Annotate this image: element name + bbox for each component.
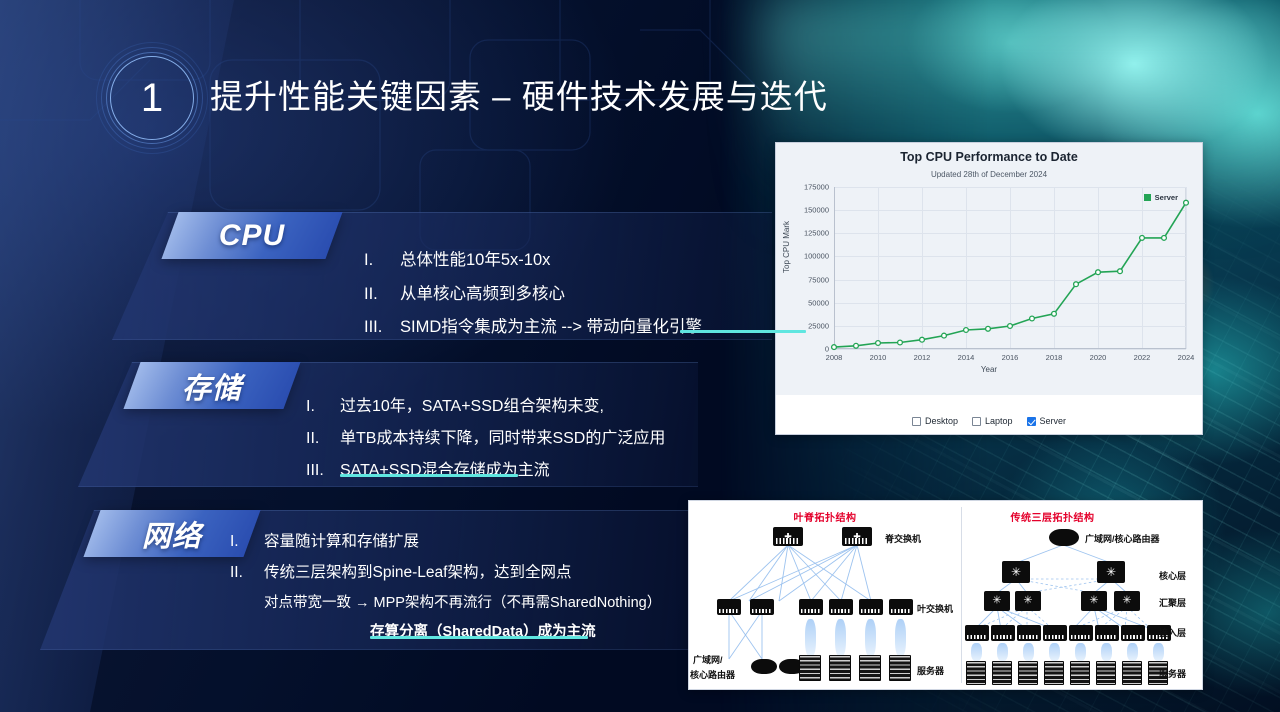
- switch-ports: [776, 538, 800, 544]
- traffic-beam: [1075, 643, 1086, 661]
- section-network-bullets: I. 容量随计算和存储扩展 II. 传统三层架构到Spine-Leaf架构，达到…: [230, 532, 700, 641]
- server-rack: [966, 661, 986, 685]
- spine-leaf-diagram: 叶脊拓扑结构 ✚ ✚ 脊交换机: [689, 501, 961, 689]
- bullet-numeral: III.: [364, 317, 400, 338]
- bullet-numeral: II.: [306, 429, 340, 449]
- bullet-text: 容量随计算和存储扩展: [264, 532, 700, 551]
- aggregation-switch: ✳: [984, 591, 1010, 611]
- core-switch: ✳: [1002, 561, 1030, 583]
- x-tick-label: 2020: [1090, 353, 1107, 362]
- bullet-numeral: II.: [230, 563, 264, 582]
- chart-x-axis-label: Year: [776, 365, 1202, 374]
- traffic-beam: [895, 619, 906, 657]
- aggregation-switch: ✳: [1114, 591, 1140, 611]
- switch-star-icon: ✳: [1011, 566, 1021, 578]
- server-rack: [889, 655, 911, 681]
- checkbox-laptop-label: Laptop: [985, 416, 1013, 426]
- x-tick-label: 2012: [914, 353, 931, 362]
- section-storage: 存储 I. 过去10年，SATA+SSD组合架构未变, II. 单TB成本持续下…: [78, 362, 698, 487]
- section-network-tag-label: 网络: [142, 513, 202, 555]
- access-switch: [991, 625, 1015, 641]
- spine-leaf-links: [689, 501, 961, 690]
- server-rack: [1070, 661, 1090, 685]
- bullet-item: II. 单TB成本持续下降，同时带来SSD的广泛应用: [306, 429, 706, 449]
- section-number-badge: 1: [106, 52, 198, 144]
- spine-switch: ✚: [842, 527, 872, 546]
- switch-ports: [1123, 635, 1142, 640]
- wan-core-router-label: 广域网/核心路由器: [1085, 532, 1160, 545]
- bullet-text: 传统三层架构到Spine-Leaf架构，达到全网点: [264, 563, 700, 582]
- switch-ports: [891, 609, 910, 614]
- leaf-switch-label: 叶交换机: [917, 602, 953, 615]
- gridline-vertical: [1186, 187, 1187, 349]
- gridline-horizontal: [834, 349, 1186, 350]
- bullet-text: 从单核心高频到多核心: [400, 284, 764, 305]
- leaf-switch: [750, 599, 774, 615]
- server-rack: [1044, 661, 1064, 685]
- switch-star-icon: ✳: [1106, 566, 1116, 578]
- checkbox-server[interactable]: Server: [1027, 416, 1067, 426]
- switch-ports: [845, 538, 869, 544]
- chart-series-toggles[interactable]: Desktop Laptop Server: [776, 416, 1202, 426]
- section-cpu: CPU I. 总体性能10年5x-10x II. 从单核心高频到多核心 III.…: [112, 212, 772, 340]
- switch-star-icon: ✳: [1089, 596, 1098, 607]
- slide-header: 1 提升性能关键因素 – 硬件技术发展与迭代: [100, 52, 860, 144]
- switch-ports: [752, 609, 771, 614]
- switch-ports: [1071, 635, 1090, 640]
- spine-switch-label: 脊交换机: [885, 532, 921, 545]
- bullet-numeral: II.: [364, 284, 400, 305]
- checkbox-desktop-box[interactable]: [912, 417, 921, 426]
- leaf-switch: [799, 599, 823, 615]
- switch-ports: [861, 609, 880, 614]
- traffic-beam: [1153, 643, 1164, 661]
- traffic-beam: [805, 619, 816, 657]
- page-title: 提升性能关键因素 – 硬件技术发展与迭代: [210, 70, 828, 118]
- bullet-item: I. 容量随计算和存储扩展: [230, 532, 700, 551]
- server-rack: [859, 655, 881, 681]
- switch-ports: [1019, 635, 1038, 640]
- section-number: 1: [106, 52, 198, 144]
- section-cpu-tag-label: CPU: [219, 219, 285, 253]
- x-tick-label: 2022: [1134, 353, 1151, 362]
- bullet-numeral: III.: [306, 461, 340, 481]
- server-rack: [829, 655, 851, 681]
- switch-ports: [967, 635, 986, 640]
- leaf-switch: [829, 599, 853, 615]
- server-rack: [1018, 661, 1038, 685]
- wan-core-router: [751, 659, 777, 674]
- wan-router-label-line2: 核心路由器: [690, 668, 735, 681]
- checkbox-server-label: Server: [1040, 416, 1067, 426]
- chart-series-server: [834, 187, 1186, 349]
- bullet-item: III. SATA+SSD混合存储成为主流: [306, 461, 706, 481]
- section-cpu-bullets: I. 总体性能10年5x-10x II. 从单核心高频到多核心 III. SIM…: [364, 250, 764, 338]
- y-tick-label: 100000: [804, 252, 829, 261]
- bullet-numeral: I.: [230, 532, 264, 551]
- legend-swatch-server: [1144, 194, 1151, 201]
- server-rack: [992, 661, 1012, 685]
- switch-ports: [719, 609, 738, 614]
- aggregation-switch: ✳: [1015, 591, 1041, 611]
- network-topology-image: 叶脊拓扑结构 ✚ ✚ 脊交换机: [688, 500, 1203, 690]
- switch-ports: [801, 609, 820, 614]
- server-rack: [1122, 661, 1142, 685]
- bullet-text: SATA+SSD混合存储成为主流: [340, 461, 706, 481]
- bullet-item: II. 从单核心高频到多核心: [364, 284, 764, 305]
- bullet-item: I. 过去10年，SATA+SSD组合架构未变,: [306, 397, 706, 417]
- bullet-numeral: I.: [364, 250, 400, 271]
- x-tick-label: 2008: [826, 353, 843, 362]
- access-switch: [1017, 625, 1041, 641]
- traffic-beam: [997, 643, 1008, 661]
- chart-plot: 0250005000075000100000125000150000175000…: [834, 187, 1186, 349]
- bullet-item: II. 传统三层架构到Spine-Leaf架构，达到全网点: [230, 563, 700, 582]
- bullet-text: 总体性能10年5x-10x: [400, 250, 764, 271]
- aggregation-layer-label: 汇聚层: [1159, 596, 1186, 609]
- bullet-item: I. 总体性能10年5x-10x: [364, 250, 764, 271]
- network-subline-1: 对点带宽一致 → MPP架构不再流行（不再需SharedNothing）: [264, 591, 700, 612]
- wan-core-router: [1049, 529, 1079, 546]
- traffic-beam: [1127, 643, 1138, 661]
- checkbox-laptop[interactable]: Laptop: [972, 416, 1013, 426]
- switch-ports: [831, 609, 850, 614]
- checkbox-desktop[interactable]: Desktop: [912, 416, 958, 426]
- spine-switch: ✚: [773, 527, 803, 546]
- chart-legend: Server: [1144, 193, 1178, 202]
- access-switch: [1121, 625, 1145, 641]
- traffic-beam: [865, 619, 876, 657]
- core-switch: ✳: [1097, 561, 1125, 583]
- core-layer-label: 核心层: [1159, 569, 1186, 582]
- y-tick-label: 25000: [808, 321, 829, 330]
- legend-label-server: Server: [1155, 193, 1178, 202]
- leaf-switch: [889, 599, 913, 615]
- wan-router-label-line1: 广域网/: [693, 653, 723, 666]
- section-network: 网络 I. 容量随计算和存储扩展 II. 传统三层架构到Spine-Leaf架构…: [40, 510, 690, 650]
- section-storage-bullets: I. 过去10年，SATA+SSD组合架构未变, II. 单TB成本持续下降，同…: [306, 397, 706, 481]
- traffic-beam: [835, 619, 846, 657]
- switch-star-icon: ✳: [1023, 596, 1032, 607]
- access-switch: [1069, 625, 1093, 641]
- storage-highlight-underline: [340, 474, 518, 477]
- aggregation-switch: ✳: [1081, 591, 1107, 611]
- leaf-switch: [859, 599, 883, 615]
- checkbox-server-box[interactable]: [1027, 417, 1036, 426]
- traffic-beam: [1101, 643, 1112, 661]
- y-tick-label: 150000: [804, 206, 829, 215]
- y-tick-label: 75000: [808, 275, 829, 284]
- section-cpu-tag: CPU: [161, 212, 342, 259]
- chart-title: Top CPU Performance to Date: [776, 150, 1202, 164]
- switch-ports: [1045, 635, 1064, 640]
- y-tick-label: 125000: [804, 229, 829, 238]
- x-tick-label: 2024: [1178, 353, 1195, 362]
- network-highlight-underline: [370, 636, 588, 639]
- leaf-switch: [717, 599, 741, 615]
- checkbox-laptop-box[interactable]: [972, 417, 981, 426]
- switch-star-icon: ✳: [992, 596, 1001, 607]
- bullet-text: 单TB成本持续下降，同时带来SSD的广泛应用: [340, 429, 706, 449]
- cpu-highlight-underline: [680, 330, 806, 333]
- access-switch: [965, 625, 989, 641]
- server-label: 服务器: [1159, 667, 1186, 680]
- server-rack: [1096, 661, 1116, 685]
- section-storage-tag-label: 存储: [182, 365, 242, 407]
- bullet-item: III. SIMD指令集成为主流 --> 带动向量化引擎: [364, 317, 764, 338]
- cpu-performance-chart-card: Top CPU Performance to Date Updated 28th…: [775, 142, 1203, 435]
- switch-star-icon: ✳: [1122, 596, 1131, 607]
- bullet-numeral: I.: [306, 397, 340, 417]
- x-tick-label: 2016: [1002, 353, 1019, 362]
- access-switch: [1095, 625, 1119, 641]
- server-rack: [799, 655, 821, 681]
- access-switch: [1043, 625, 1067, 641]
- chart-subtitle: Updated 28th of December 2024: [776, 170, 1202, 179]
- bullet-text: SIMD指令集成为主流 --> 带动向量化引擎: [400, 317, 764, 338]
- server-label: 服务器: [917, 664, 944, 677]
- x-tick-label: 2010: [870, 353, 887, 362]
- y-tick-label: 50000: [808, 298, 829, 307]
- traffic-beam: [971, 643, 982, 661]
- traffic-beam: [1049, 643, 1060, 661]
- x-tick-label: 2018: [1046, 353, 1063, 362]
- checkbox-desktop-label: Desktop: [925, 416, 958, 426]
- section-storage-tag: 存储: [123, 362, 300, 409]
- switch-ports: [1097, 635, 1116, 640]
- traffic-beam: [1023, 643, 1034, 661]
- chart-y-axis-label: Top CPU Mark: [782, 221, 791, 273]
- x-tick-label: 2014: [958, 353, 975, 362]
- switch-ports: [993, 635, 1012, 640]
- y-tick-label: 175000: [804, 183, 829, 192]
- access-layer-label: 接入层: [1159, 626, 1186, 639]
- three-tier-diagram: 传统三层拓扑结构 广域网/核心路由器: [961, 501, 1203, 689]
- bullet-text: 过去10年，SATA+SSD组合架构未变,: [340, 397, 706, 417]
